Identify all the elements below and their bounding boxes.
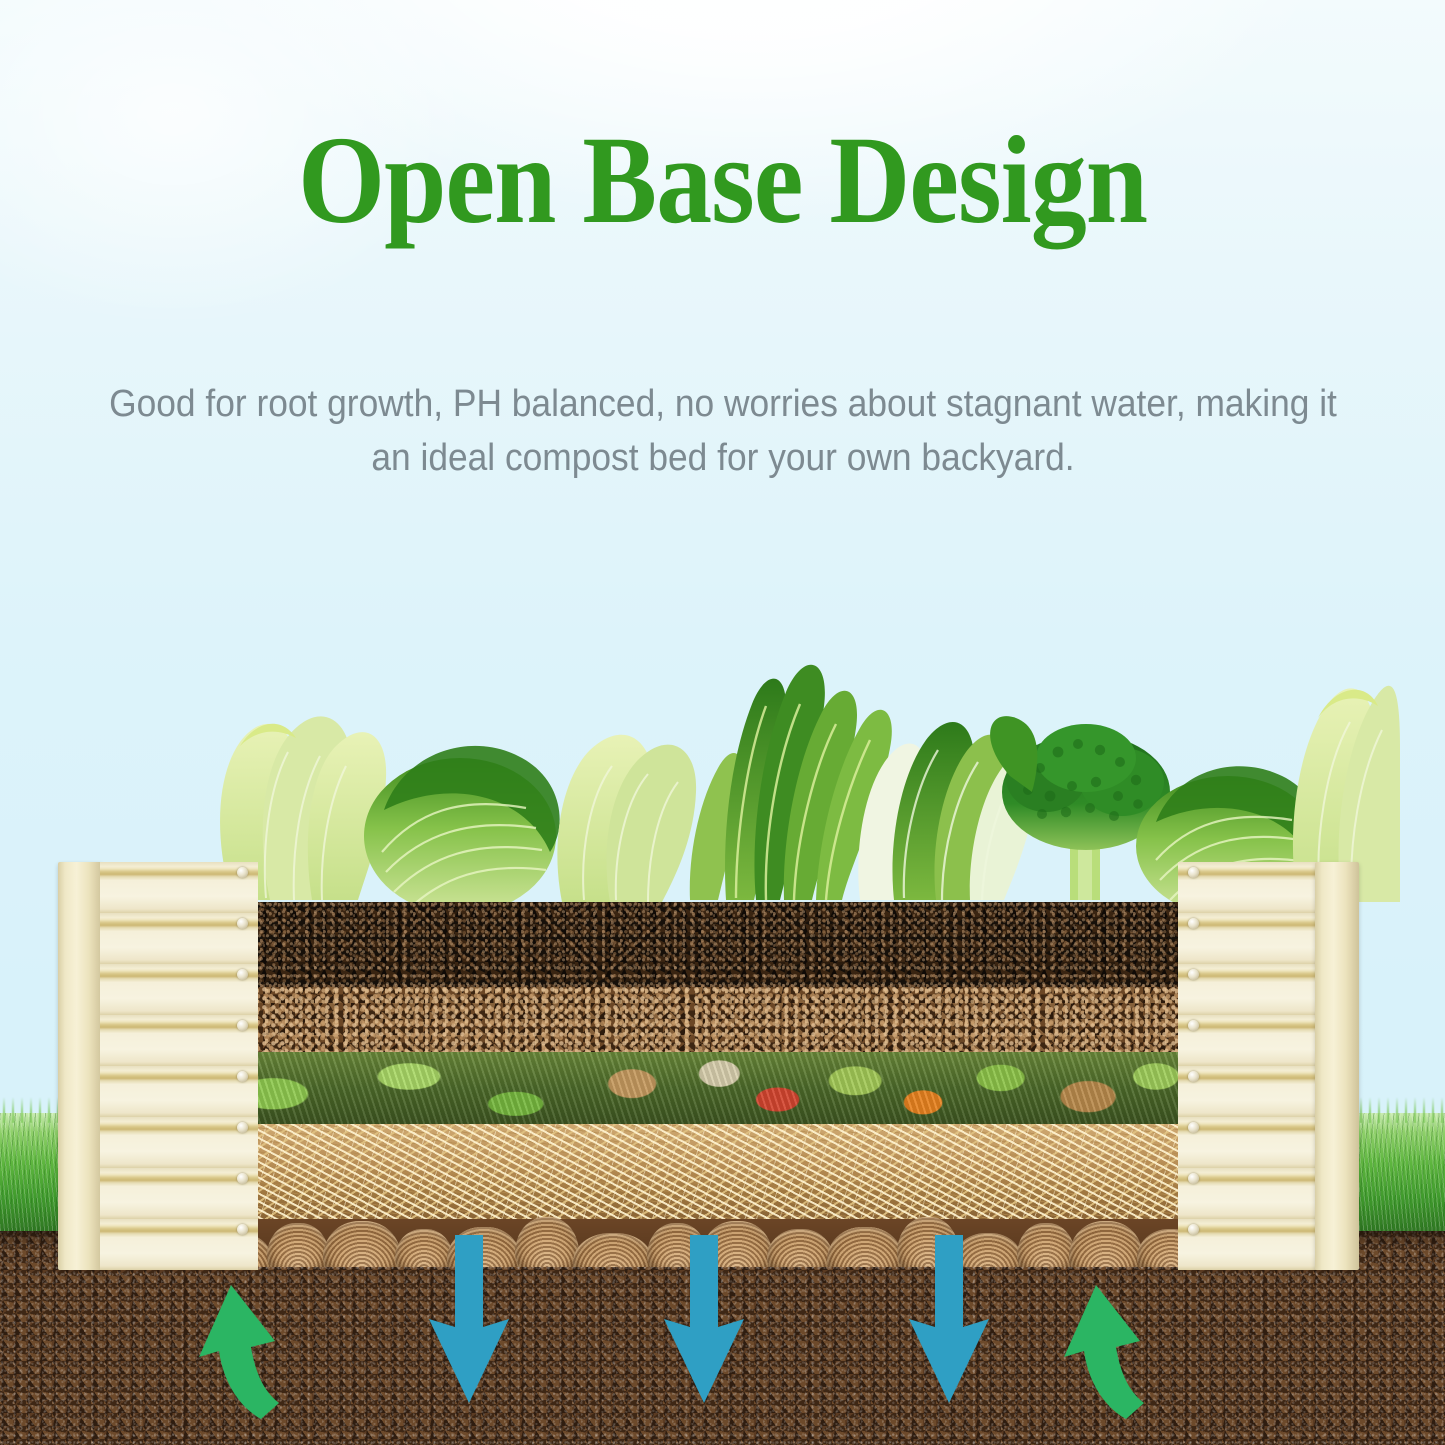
- bed-slat: [1178, 1117, 1336, 1169]
- bed-slat: [100, 1219, 258, 1270]
- arrow-shape: [1064, 1285, 1144, 1419]
- arrow-shape: [909, 1235, 989, 1403]
- slat-stack-left: [100, 862, 258, 1270]
- arrow-nutrients-up-right: [1040, 1231, 1190, 1431]
- slat-stack-right: [1178, 862, 1336, 1270]
- plant-green-cabbage-1: [364, 746, 560, 914]
- bed-slat: [1178, 964, 1336, 1016]
- panel-screw: [237, 969, 248, 980]
- arrow-shape: [199, 1285, 279, 1419]
- arrow-drainage-down-2: [630, 1231, 780, 1431]
- bed-slat: [100, 913, 258, 965]
- panel-screw: [1188, 1173, 1199, 1184]
- panel-screw: [237, 1224, 248, 1235]
- panel-screw: [1188, 867, 1199, 878]
- bed-slat: [100, 964, 258, 1016]
- bed-slat: [1178, 913, 1336, 965]
- page-title: Open Base Design: [0, 118, 1445, 243]
- panel-screw: [237, 1173, 248, 1184]
- panel-screw: [1188, 1020, 1199, 1031]
- arrow-shape: [429, 1235, 509, 1403]
- panel-screw: [1188, 918, 1199, 929]
- bed-slat: [1178, 1015, 1336, 1067]
- arrow-drainage-down-3: [875, 1231, 1025, 1431]
- bed-panel-right: [1178, 862, 1378, 1270]
- bed-cross-section: [215, 902, 1185, 1267]
- panel-screw: [1188, 1224, 1199, 1235]
- arrow-shape: [664, 1235, 744, 1403]
- panel-screw: [1188, 1071, 1199, 1082]
- panel-screw: [237, 1071, 248, 1082]
- bed-slat: [100, 1168, 258, 1220]
- layer-mulch: [215, 987, 1185, 1052]
- bed-slat: [100, 862, 258, 914]
- corner-post-left: [58, 862, 102, 1270]
- panel-screw: [1188, 1122, 1199, 1133]
- panel-screw: [237, 918, 248, 929]
- panel-screw: [237, 1122, 248, 1133]
- layer-straw: [215, 1124, 1185, 1219]
- bed-slat: [1178, 862, 1336, 914]
- page-subtitle: Good for root growth, PH balanced, no wo…: [104, 378, 1341, 486]
- panel-screw: [237, 1020, 248, 1031]
- panel-screw: [237, 867, 248, 878]
- plant-napa-cabbage-2: [557, 735, 696, 902]
- bed-slat: [100, 1117, 258, 1169]
- bed-slat: [100, 1066, 258, 1118]
- bed-slat: [1178, 1066, 1336, 1118]
- bed-slat: [1178, 1168, 1336, 1220]
- bed-slat: [100, 1015, 258, 1067]
- panel-screw: [1188, 969, 1199, 980]
- bed-slat: [1178, 1219, 1336, 1270]
- bed-panel-left: [58, 862, 258, 1270]
- layer-kitchen-scraps: [215, 1052, 1185, 1124]
- promo-graphic: Open Base Design Good for root growth, P…: [0, 0, 1445, 1445]
- corner-post-right: [1315, 862, 1359, 1270]
- arrow-drainage-down-1: [395, 1231, 545, 1431]
- layer-compost: [215, 902, 1185, 987]
